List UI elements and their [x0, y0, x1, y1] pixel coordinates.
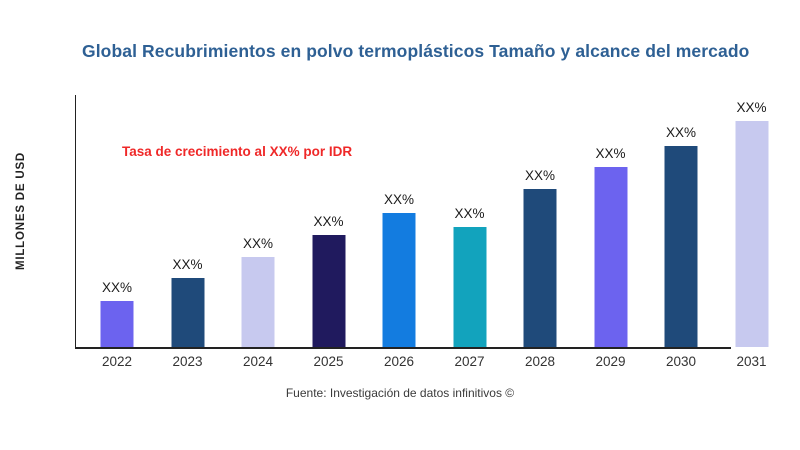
bar-2030[interactable]	[665, 146, 698, 347]
x-tick-2026: 2026	[366, 353, 432, 371]
bar-value-label-2025: XX%	[313, 214, 343, 230]
bar-group-2023[interactable]: XX%	[155, 278, 221, 347]
y-axis-line	[75, 95, 76, 348]
x-tick-2031: 2031	[719, 353, 785, 371]
bar-2031[interactable]	[735, 121, 768, 347]
bar-2024[interactable]	[242, 257, 275, 347]
x-tick-2023: 2023	[155, 353, 221, 371]
bar-group-2031[interactable]: XX%	[719, 121, 785, 347]
bar-2028[interactable]	[524, 189, 557, 347]
chart-container: Global Recubrimientos en polvo termoplás…	[0, 0, 800, 450]
x-tick-2028: 2028	[507, 353, 573, 371]
x-tick-2030: 2030	[648, 353, 714, 371]
bar-value-label-2023: XX%	[172, 257, 202, 273]
y-axis-label-wrapper: MILLONES DE USD	[0, 95, 34, 350]
bar-2026[interactable]	[383, 213, 416, 347]
bar-value-label-2030: XX%	[666, 125, 696, 141]
bar-2029[interactable]	[594, 167, 627, 347]
x-tick-2024: 2024	[225, 353, 291, 371]
x-tick-2029: 2029	[578, 353, 644, 371]
bar-2027[interactable]	[453, 227, 486, 347]
source-caption: Fuente: Investigación de datos infinitiv…	[0, 386, 800, 400]
bar-group-2025[interactable]: XX%	[296, 235, 362, 347]
bar-group-2030[interactable]: XX%	[648, 146, 714, 347]
x-tick-2025: 2025	[296, 353, 362, 371]
bar-value-label-2031: XX%	[736, 100, 766, 116]
y-axis-label: MILLONES DE USD	[15, 96, 27, 326]
bar-group-2029[interactable]: XX%	[578, 167, 644, 347]
bar-group-2024[interactable]: XX%	[225, 257, 291, 347]
growth-rate-annotation: Tasa de crecimiento al XX% por IDR	[122, 144, 352, 159]
bar-value-label-2022: XX%	[102, 280, 132, 296]
plot-area: Tasa de crecimiento al XX% por IDR XX%XX…	[75, 95, 795, 348]
bar-group-2028[interactable]: XX%	[507, 189, 573, 347]
bar-2022[interactable]	[101, 301, 134, 347]
bar-value-label-2028: XX%	[525, 168, 555, 184]
bar-2025[interactable]	[312, 235, 345, 347]
x-tick-2022: 2022	[84, 353, 150, 371]
bar-2023[interactable]	[171, 278, 204, 347]
bar-group-2027[interactable]: XX%	[437, 227, 503, 347]
bar-value-label-2024: XX%	[243, 236, 273, 252]
x-axis-line	[75, 347, 731, 349]
bar-value-label-2029: XX%	[595, 146, 625, 162]
bar-value-label-2027: XX%	[454, 206, 484, 222]
bar-group-2022[interactable]: XX%	[84, 301, 150, 347]
x-tick-2027: 2027	[437, 353, 503, 371]
bar-group-2026[interactable]: XX%	[366, 213, 432, 347]
bar-value-label-2026: XX%	[384, 192, 414, 208]
chart-title: Global Recubrimientos en polvo termoplás…	[82, 40, 800, 62]
